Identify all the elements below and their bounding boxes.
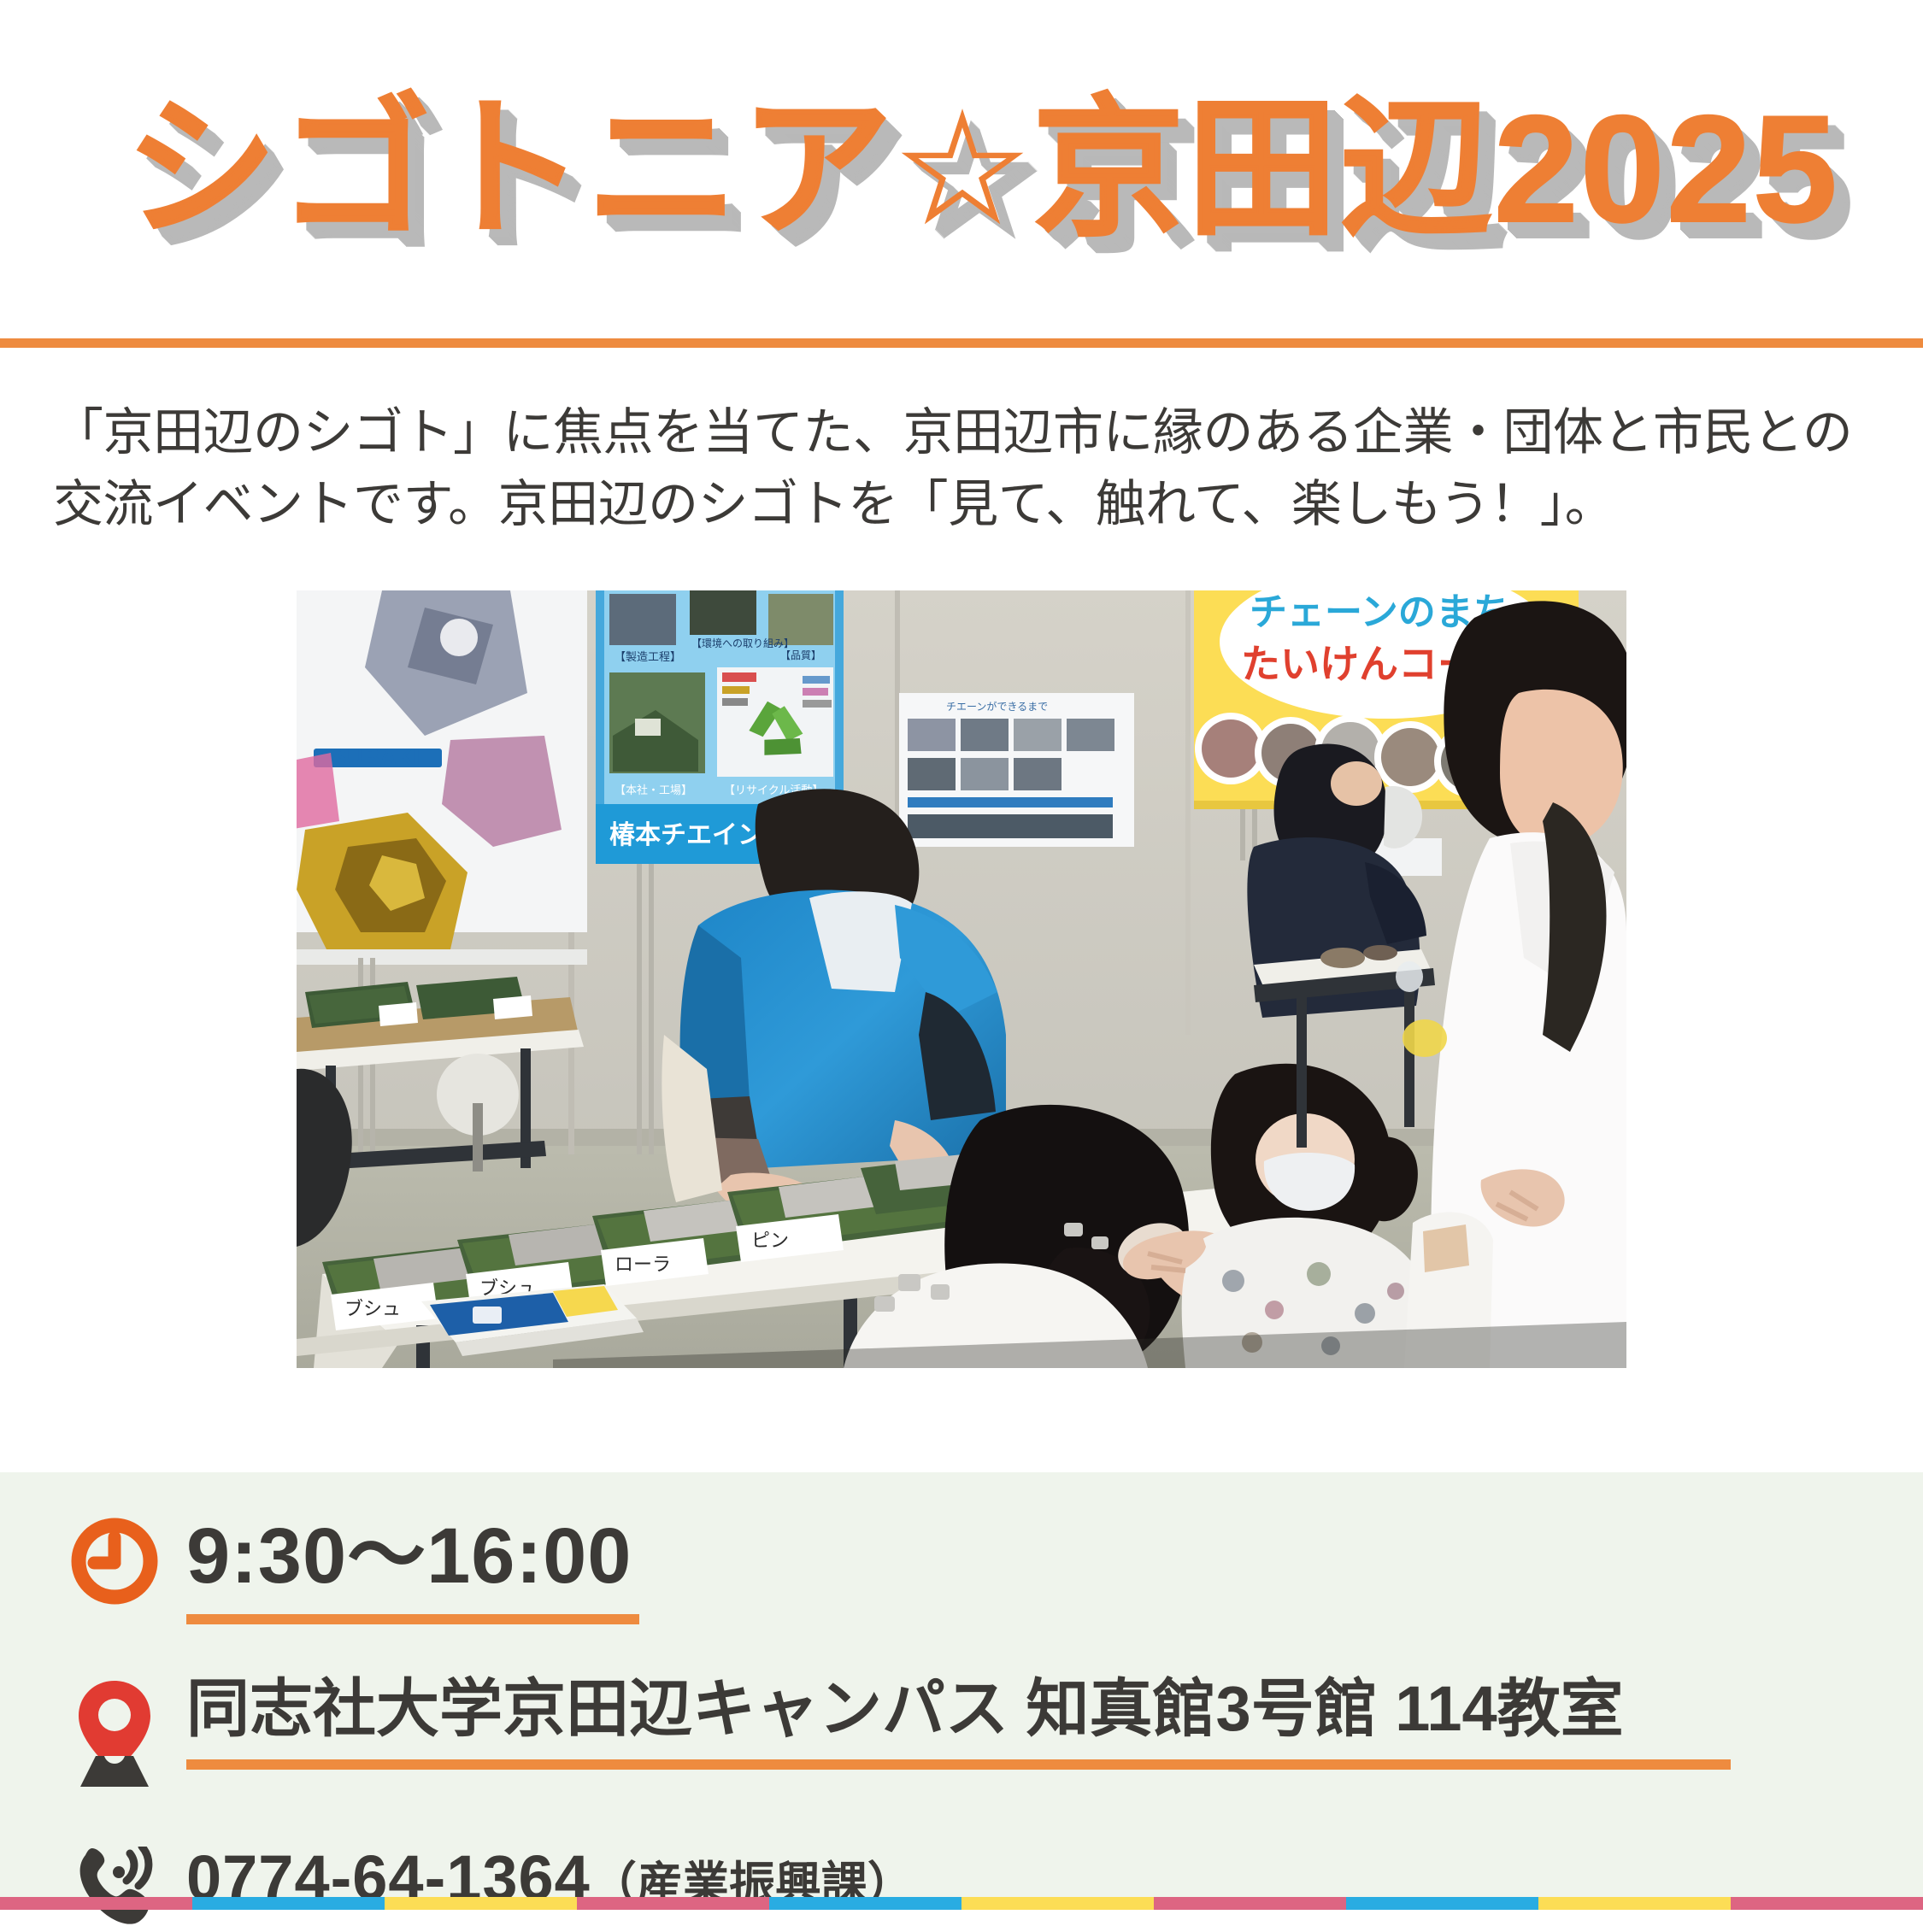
info-place-block: 同志社大学京田辺キャンパス 知真館3号館 114教室 (162, 1677, 1731, 1770)
svg-text:ブシュ: ブシュ (344, 1298, 401, 1319)
stripe-10 (1731, 1897, 1923, 1910)
svg-text:ローラ: ローラ (615, 1254, 671, 1275)
photo-poster-right-small: チエーンができるまで (899, 693, 1134, 847)
stripe-2 (192, 1897, 385, 1910)
info-time-block: 9:30〜16:00 (162, 1517, 639, 1624)
page-title: シゴトニア☆京田辺2025 (125, 93, 1839, 245)
stripe-7 (1154, 1897, 1346, 1910)
title-wrapper: シゴトニア☆京田辺2025 (125, 93, 1839, 245)
bottom-color-stripes (0, 1897, 1923, 1910)
info-row-tel: 0774-64-1364（産業振興課） (0, 1847, 1923, 1932)
stripe-1 (0, 1897, 192, 1910)
stripe-3 (385, 1897, 577, 1910)
stripe-9 (1538, 1897, 1731, 1910)
svg-text:【品質】: 【品質】 (780, 649, 821, 661)
event-description: 「京田辺のシゴト」に焦点を当てた、京田辺市に縁のある企業・団体と市民との 交流イ… (0, 348, 1923, 541)
info-row-time: 9:30〜16:00 (0, 1517, 1923, 1624)
svg-text:【環境への取り組み】: 【環境への取り組み】 (691, 637, 794, 649)
stripe-6 (961, 1897, 1154, 1910)
map-pin-icon (67, 1677, 162, 1790)
event-photo: TSUBAKI 【製造工程】 【環境への取り組み】 【品質】 (297, 590, 1626, 1368)
svg-text:チエーンができるまで: チエーンができるまで (946, 700, 1048, 713)
svg-text:【本社・工場】: 【本社・工場】 (615, 784, 692, 796)
svg-text:【製造工程】: 【製造工程】 (615, 650, 681, 663)
poster-header: シゴトニア☆京田辺2025 (0, 0, 1923, 338)
clock-icon (67, 1517, 162, 1606)
time-underline (186, 1614, 639, 1624)
description-line-2: 交流イベントです。京田辺のシゴトを「見て、触れて、楽しもう！」。 (53, 469, 1870, 541)
svg-text:TSUBAKI: TSUBAKI (317, 744, 420, 770)
description-line-1: 「京田辺のシゴト」に焦点を当てた、京田辺市に縁のある企業・団体と市民との (53, 397, 1870, 469)
stripe-4 (577, 1897, 769, 1910)
event-info-panel: 9:30〜16:00 同志社大学京田辺キャンパス 知真館3号館 114教室 (0, 1472, 1923, 1910)
stripe-5 (769, 1897, 961, 1910)
place-underline (186, 1759, 1731, 1770)
photo-poster-left: TSUBAKI (297, 590, 587, 965)
event-location: 同志社大学京田辺キャンパス 知真館3号館 114教室 (186, 1677, 1731, 1741)
info-row-place: 同志社大学京田辺キャンパス 知真館3号館 114教室 (0, 1677, 1923, 1790)
event-photo-illustration: TSUBAKI 【製造工程】 【環境への取り組み】 【品質】 (297, 590, 1626, 1368)
stripe-8 (1346, 1897, 1538, 1910)
photo-area: TSUBAKI 【製造工程】 【環境への取り組み】 【品質】 (0, 541, 1923, 1368)
svg-text:ピン: ピン (751, 1230, 789, 1251)
header-divider (0, 338, 1923, 348)
event-time: 9:30〜16:00 (186, 1517, 639, 1595)
phone-icon (67, 1847, 162, 1932)
